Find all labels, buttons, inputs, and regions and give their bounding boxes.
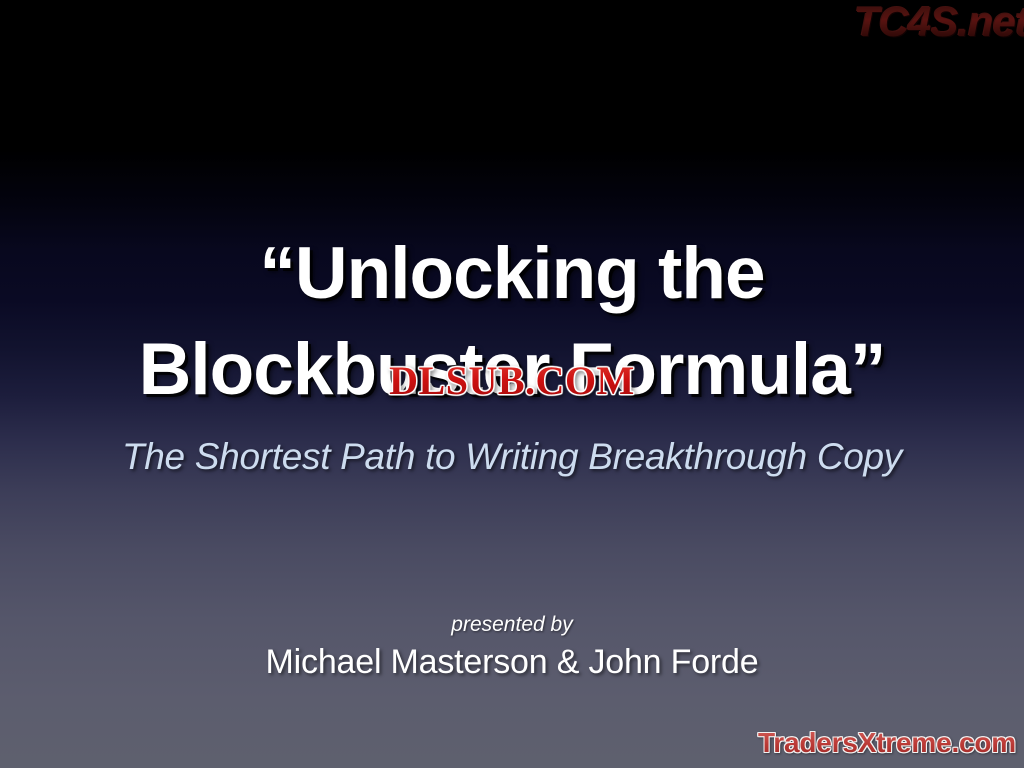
presented-by-label: presented by [0,613,1024,637]
watermark-tc4s: TC4S.net [854,1,1024,43]
title-line-2: Blockbuster Formula” [0,334,1024,406]
watermark-tradersxtreme-text: TradersXtreme.com [758,727,1016,758]
slide-subtitle: The Shortest Path to Writing Breakthroug… [0,436,1024,478]
presentation-slide: “Unlocking the Blockbuster Formula” The … [0,0,1024,768]
title-line-1: “Unlocking the [0,238,1024,310]
presenter-names: Michael Masterson & John Forde [0,643,1024,682]
watermark-tradersxtreme: TradersXtreme.com [758,727,1016,759]
slide-title: “Unlocking the Blockbuster Formula” [0,238,1024,405]
